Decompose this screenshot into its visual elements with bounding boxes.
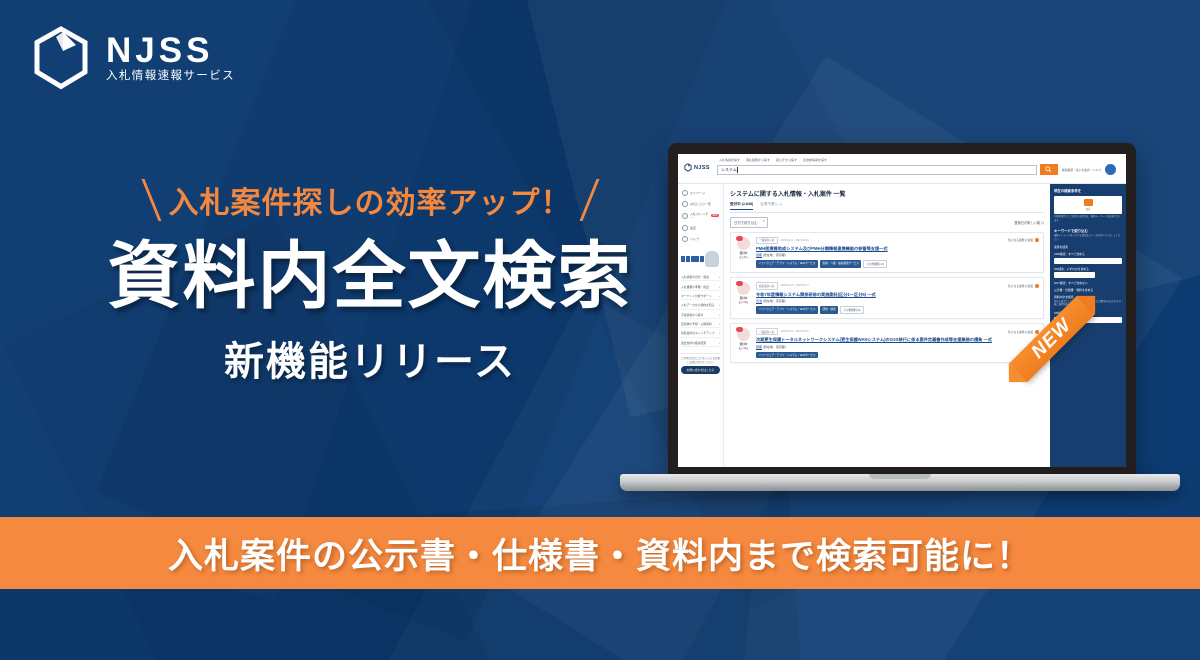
njss-hexagon-logo-icon bbox=[684, 163, 692, 172]
laptop-base bbox=[620, 474, 1180, 491]
filter-row: 日付で絞り込む 登録日が新しい順 ⇅ bbox=[730, 217, 1044, 228]
deadline-suffix: 日 bbox=[745, 256, 747, 259]
sidebar-item-favorites[interactable]: お気に入り一覧 bbox=[681, 199, 720, 208]
tab-label: 受付中 bbox=[730, 202, 741, 206]
card-deadline: あと64日 bbox=[735, 300, 752, 304]
card-org-link[interactable]: 国都 bbox=[756, 253, 762, 257]
hero-kicker-row: 入札案件探しの効率アップ！ bbox=[60, 178, 680, 222]
deadline-pin-icon bbox=[736, 236, 743, 241]
app-nav-link-1[interactable]: 落札結果から探す bbox=[746, 158, 770, 162]
banner-text: 入札案件の公示書・仕様書・資料内まで検索可能に！ bbox=[168, 528, 1032, 579]
user-avatar-icon[interactable] bbox=[1105, 164, 1116, 175]
sidebar-link[interactable]: マーケット分析サポート› bbox=[681, 293, 720, 300]
date-filter-dropdown[interactable]: 日付で絞り込む bbox=[730, 217, 768, 228]
sort-arrow-icon: ⇅ bbox=[1041, 221, 1044, 225]
page-title: システムに関する入札情報・入札案件 一覧 bbox=[730, 189, 1044, 198]
and-search-label: AND検索：すべて含める bbox=[1054, 252, 1122, 256]
sidebar-item-label: 設定 bbox=[690, 226, 696, 230]
app-sidebar-left: マイページ お気に入り一覧 入札カレンダー NEW bbox=[678, 184, 724, 467]
search-input[interactable]: システム bbox=[717, 165, 1037, 175]
card-date-range: 2025.04.15 - 2025.06.17 bbox=[781, 284, 809, 287]
app-nav-link-0[interactable]: 入札情報を探す bbox=[719, 158, 740, 162]
card-org: 自治 (所在地：東京都) bbox=[756, 299, 1039, 303]
card-org-note: (所在地：東京都) bbox=[763, 345, 786, 349]
contact-note: ご不明な点がございましたら お気軽にお問い合わせください bbox=[681, 357, 720, 364]
sidebar-item-calendar[interactable]: 入札カレンダー NEW bbox=[681, 210, 720, 221]
sidebar-link-label: 不落情報から探す bbox=[681, 313, 703, 317]
card-org-note: (所在地：東京都) bbox=[763, 299, 786, 303]
card-deadline: あと9日 bbox=[735, 255, 752, 259]
card-content: 一般競争入札 2025.04.11 - 2025.06.02 気になる案件に追加… bbox=[756, 328, 1039, 358]
card-tag-extra: その他資料 (3) bbox=[840, 306, 864, 314]
chevron-right-icon: › bbox=[719, 313, 720, 317]
card-tag: ソフトウェア・アプリ・システム・Webサービス bbox=[756, 306, 818, 314]
slash-left-icon bbox=[141, 179, 161, 221]
tab-count: (2,848) bbox=[742, 202, 753, 206]
brand-logo: NJSS 入札情報速報サービス bbox=[30, 24, 235, 92]
magnifier-icon bbox=[1045, 166, 1052, 173]
favorite-button[interactable]: 気になる案件に追加 bbox=[1008, 284, 1039, 289]
sidebar-item-mypage[interactable]: マイページ bbox=[681, 188, 720, 197]
chevron-right-icon: › bbox=[719, 303, 720, 307]
app-nav-link-2[interactable]: 官公庁から探す bbox=[776, 158, 797, 162]
app-top-nav: 入札情報を探す 落札結果から探す 官公庁から探す 自治体情報を探す bbox=[717, 158, 1120, 162]
deadline-pin-icon bbox=[736, 327, 743, 332]
save-folder-icon bbox=[1084, 199, 1093, 206]
save-condition-heading: 現在の検索条件を bbox=[1054, 188, 1122, 193]
avatar bbox=[737, 328, 750, 341]
card-date-range: 2025.04.11 - 2025.06.02 bbox=[781, 330, 809, 333]
chevron-right-icon: › bbox=[719, 331, 720, 335]
hero-headline: 入札案件探しの効率アップ！ 資料内全文検索 新機能リリース bbox=[60, 178, 680, 387]
keyword-note: 複数キーワードを入力する場合はスペース区切りで入力してください bbox=[1054, 235, 1122, 242]
app-utility-links[interactable]: 検索履歴｜使い方案内・ヘルプ bbox=[1062, 168, 1101, 172]
sidebar-new-badge: NEW bbox=[711, 214, 719, 217]
app-main: システムに関する入札情報・入札案件 一覧 受付中 (2,848) 名簿不要 (—… bbox=[724, 184, 1050, 467]
card-tags: ソフトウェア・アプリ・システム・Webサービス 研修・講習 その他資料 (3) bbox=[756, 306, 1039, 314]
favorite-label: 気になる案件に追加 bbox=[1008, 330, 1033, 334]
card-org-link[interactable]: 自治 bbox=[756, 299, 762, 303]
hero-kicker: 入札案件探しの効率アップ！ bbox=[169, 178, 572, 222]
brand-name: NJSS bbox=[106, 33, 235, 68]
card-title[interactable]: PMH医療費助成システム及びPMH分類情報連携機能の移管等支援一式 bbox=[756, 246, 1039, 252]
sidebar-link[interactable]: 入札情報の見方・用語› bbox=[681, 274, 720, 281]
search-button[interactable] bbox=[1040, 164, 1058, 175]
slash-right-icon bbox=[579, 179, 599, 221]
card-content: 指名競争入札 2025.04.15 - 2025.06.17 気になる案件に追加… bbox=[756, 282, 1039, 314]
and-search-input[interactable] bbox=[1054, 258, 1122, 264]
avatar bbox=[737, 237, 750, 250]
card-org-link[interactable]: 国都 bbox=[756, 345, 762, 349]
sidebar-link[interactable]: 入札データから傾向を知る› bbox=[681, 302, 720, 309]
help-icon bbox=[682, 236, 688, 242]
sort-label: 登録日が新しい順 bbox=[1014, 221, 1040, 225]
keyword-heading: キーワードで絞り込む bbox=[1054, 228, 1122, 233]
save-condition-button[interactable]: 保存 bbox=[1054, 196, 1122, 214]
chevron-right-icon: › bbox=[719, 275, 720, 279]
tab-label: 名簿不要 bbox=[760, 202, 774, 206]
card-tags: ソフトウェア・アプリ・システム・Webサービス 医療・介護・福祉関連サービス そ… bbox=[756, 260, 1039, 268]
not-search-label: NOT検索：すべて含めない bbox=[1054, 281, 1122, 285]
star-badge-icon bbox=[1035, 284, 1040, 289]
bottom-banner: 入札案件の公示書・仕様書・資料内まで検索可能に！ bbox=[0, 517, 1200, 589]
app-header-right: 入札情報を探す 落札結果から探す 官公庁から探す 自治体情報を探す システム bbox=[717, 158, 1120, 175]
tab-no-registry[interactable]: 名簿不要 (—) bbox=[760, 202, 781, 210]
deadline-pin-icon bbox=[736, 281, 743, 286]
sidebar-link-label: 入札書類の準備・提出 bbox=[681, 285, 709, 289]
hero-subtitle: 新機能リリース bbox=[60, 329, 680, 387]
sidebar-item-label: 入札カレンダー bbox=[690, 212, 709, 220]
sidebar-link-label: マーケット分析サポート bbox=[681, 294, 712, 298]
hero-title: 資料内全文検索 bbox=[60, 238, 680, 317]
avatar bbox=[737, 282, 750, 295]
card-meta: 指名競争入札 2025.04.15 - 2025.06.17 気になる案件に追加 bbox=[756, 282, 1039, 289]
card-date-range: 2025.04.11 - 2025.06.04 bbox=[781, 239, 809, 242]
result-card[interactable]: 受付中 あと42日 一般競争入札 2025.04.11 - 2025.06.02 bbox=[730, 323, 1044, 363]
sidebar-link[interactable]: 自治体の予算・公開資料› bbox=[681, 321, 720, 328]
sidebar-link-label: 新着案件のキャッチアップ bbox=[681, 331, 715, 335]
card-meta: 一般競争入札 2025.04.11 - 2025.06.02 気になる案件に追加 bbox=[756, 328, 1039, 335]
card-title[interactable]: 令和7年度情報システム関係研修の実施委託(区分1〜区分5) 一式 bbox=[756, 292, 1039, 298]
sidebar-link[interactable]: 入札書類の準備・提出› bbox=[681, 283, 720, 290]
favorite-button[interactable]: 気になる案件に追加 bbox=[1008, 330, 1039, 335]
contact-button[interactable]: お問い合わせはこちら bbox=[681, 366, 720, 374]
app-search-row: システム 検索履歴｜使い方案内・ヘルプ bbox=[717, 164, 1120, 175]
card-tags: ソフトウェア・アプリ・システム・Webサービス bbox=[756, 352, 1039, 358]
sidebar-link-label: 入札データから傾向を知る bbox=[681, 303, 715, 307]
star-icon bbox=[682, 201, 688, 207]
app-logo[interactable]: NJSS bbox=[684, 163, 710, 172]
calendar-icon bbox=[682, 213, 688, 219]
sidebar-link[interactable]: 過去案件の検索結果› bbox=[681, 340, 720, 347]
chevron-right-icon: › bbox=[719, 322, 720, 326]
card-meta: 一般競争入札 2025.04.11 - 2025.06.04 気になる案件に追加 bbox=[756, 237, 1039, 244]
result-card[interactable]: 受付中 あと64日 指名競争入札 2025.04.15 - 2025.06.17 bbox=[730, 277, 1044, 319]
person-illustration-icon bbox=[705, 251, 719, 267]
sidebar-contact-box: ご不明な点がございましたら お気軽にお問い合わせください お問い合わせはこちら bbox=[681, 353, 720, 374]
text-caret bbox=[737, 167, 738, 173]
sidebar-item-label: マイページ bbox=[690, 191, 705, 195]
field-name-label: 案件名検索 bbox=[1054, 245, 1122, 249]
app-nav-link-3[interactable]: 自治体情報を探す bbox=[803, 158, 827, 162]
sidebar-item-help[interactable]: ヘルプ bbox=[681, 234, 720, 243]
deadline-suffix: 日 bbox=[746, 347, 748, 350]
card-tag: 医療・介護・福祉関連サービス bbox=[820, 260, 861, 268]
card-tag: 研修・講習 bbox=[820, 306, 838, 314]
card-tag: ソフトウェア・アプリ・システム・Webサービス bbox=[756, 260, 818, 268]
card-title[interactable]: 次期更生保護トータルネットワークシステム(更生保護WANシステム)のGSS移行に… bbox=[756, 337, 1039, 343]
deadline-suffix: 日 bbox=[746, 301, 748, 304]
save-note: ※検索条件として保存する場合は、検索キーワードが必須となります bbox=[1054, 216, 1122, 223]
card-status-block: 受付中 あと9日 bbox=[735, 237, 752, 269]
save-button-label: 保存 bbox=[1057, 207, 1119, 211]
card-status-block: 受付中 あと64日 bbox=[735, 282, 752, 314]
brand-tagline: 入札情報速報サービス bbox=[106, 71, 235, 83]
result-tabs: 受付中 (2,848) 名簿不要 (—) bbox=[730, 202, 1044, 213]
njss-hexagon-logo-icon bbox=[30, 24, 92, 92]
favorite-button[interactable]: 気になる案件に追加 bbox=[1008, 238, 1039, 243]
card-deadline: あと42日 bbox=[735, 346, 752, 350]
or-search-label: OR検索：いずれかを含める bbox=[1054, 267, 1122, 271]
laptop-mockup: NJSS 入札情報を探す 落札結果から探す 官公庁から探す 自治体情報を探す シ… bbox=[620, 143, 1180, 503]
sort-control[interactable]: 登録日が新しい順 ⇅ bbox=[1014, 220, 1044, 225]
laptop-lid: NJSS 入札情報を探す 落札結果から探す 官公庁から探す 自治体情報を探す シ… bbox=[668, 143, 1136, 476]
sidebar-item-label: ヘルプ bbox=[690, 237, 699, 241]
tab-count: (—) bbox=[776, 202, 782, 206]
sidebar-item-settings[interactable]: 設定 bbox=[681, 223, 720, 232]
favorite-label: 気になる案件に追加 bbox=[1008, 284, 1033, 288]
app-header: NJSS 入札情報を探す 落札結果から探す 官公庁から探す 自治体情報を探す シ… bbox=[678, 154, 1126, 184]
card-category-pill: 一般競争入札 bbox=[756, 237, 778, 244]
card-category-pill: 一般競争入札 bbox=[756, 328, 778, 335]
njss-app: NJSS 入札情報を探す 落札結果から探す 官公庁から探す 自治体情報を探す シ… bbox=[678, 154, 1126, 467]
card-tag: ソフトウェア・アプリ・システム・Webサービス bbox=[756, 352, 818, 358]
sidebar-link[interactable]: 不落情報から探す› bbox=[681, 312, 720, 319]
card-org-note: (所在地：東京都) bbox=[763, 253, 786, 257]
calendar-grid-icon bbox=[681, 256, 704, 263]
result-card[interactable]: 受付中 あと9日 一般競争入札 2025.04.11 - 2025.06.04 bbox=[730, 232, 1044, 274]
tab-open[interactable]: 受付中 (2,848) bbox=[730, 202, 753, 210]
or-search-input[interactable] bbox=[1054, 272, 1095, 278]
gear-icon bbox=[682, 225, 688, 231]
chevron-right-icon: › bbox=[719, 294, 720, 298]
card-content: 一般競争入札 2025.04.11 - 2025.06.04 気になる案件に追加… bbox=[756, 237, 1039, 269]
laptop-screen: NJSS 入札情報を探す 落札結果から探す 官公庁から探す 自治体情報を探す シ… bbox=[678, 154, 1126, 467]
card-category-pill: 指名競争入札 bbox=[756, 282, 778, 289]
app-logo-text: NJSS bbox=[694, 165, 710, 171]
card-status-block: 受付中 あと42日 bbox=[735, 328, 752, 358]
card-tag-extra: その他資料 (2) bbox=[863, 260, 887, 268]
chevron-right-icon: › bbox=[719, 285, 720, 289]
sidebar-link-label: 過去案件の検索結果 bbox=[681, 341, 706, 345]
search-input-value: システム bbox=[718, 167, 737, 173]
sidebar-illustration bbox=[681, 248, 720, 270]
sidebar-link[interactable]: 新着案件のキャッチアップ› bbox=[681, 330, 720, 337]
card-org: 国都 (所在地：東京都) bbox=[756, 253, 1039, 257]
star-badge-icon bbox=[1035, 238, 1040, 243]
sidebar-link-label: 自治体の予算・公開資料 bbox=[681, 322, 712, 326]
favorite-label: 気になる案件に追加 bbox=[1008, 238, 1033, 242]
sidebar-item-label: お気に入り一覧 bbox=[690, 202, 711, 206]
chevron-right-icon: › bbox=[719, 341, 720, 345]
home-icon bbox=[682, 190, 688, 196]
card-org: 国都 (所在地：東京都) bbox=[756, 345, 1039, 349]
sidebar-link-label: 入札情報の見方・用語 bbox=[681, 275, 709, 279]
